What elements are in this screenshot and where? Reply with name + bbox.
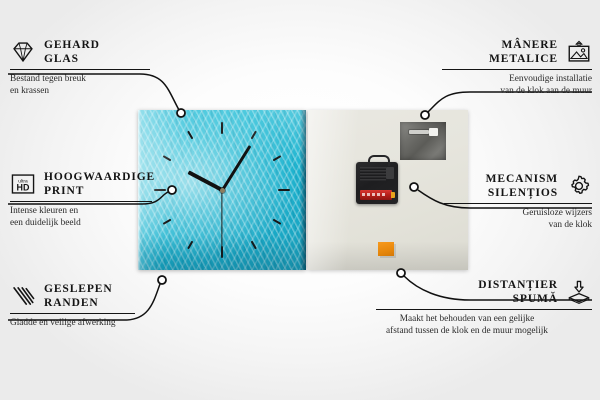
orange-foam-spacer <box>378 242 394 256</box>
callout-desc-line-1: Eenvoudige installatie <box>377 74 592 86</box>
callout-title: MECANISM SILENȚIOS <box>486 172 558 200</box>
hour-marker <box>273 155 282 161</box>
callout-distantier-spuma[interactable]: DISTANȚIER SPUMĂ Maakt het behouden van … <box>342 278 592 337</box>
callout-title: GEHARD GLAS <box>44 38 100 66</box>
clock-center-pin <box>220 188 225 193</box>
battery <box>360 190 392 200</box>
callout-manere-metalice[interactable]: MÂNERE METALICE Eenvoudige installatie v… <box>377 38 592 97</box>
callout-desc-line-2: een duidelijk beeld <box>10 218 220 230</box>
callout-title: MÂNERE METALICE <box>489 38 558 66</box>
callout-header: GESLEPEN RANDEN <box>10 282 210 310</box>
callout-title: GESLEPEN RANDEN <box>44 282 113 310</box>
callout-desc-line-1: Gladde en veilige afwerking <box>10 318 210 330</box>
foam-spacer-icon <box>566 279 592 305</box>
infographic-root: GEHARD GLAS Bestand tegen breuk en krass… <box>0 0 600 400</box>
mechanism-grill <box>360 167 386 181</box>
callout-rule <box>376 309 592 310</box>
callout-desc-line-1: Geruisloze wijzers <box>392 208 592 220</box>
picture-hanger-icon <box>566 39 592 65</box>
callout-rule <box>10 69 150 70</box>
callout-desc-line-1: Maakt het behouden van een gelijke <box>342 314 592 326</box>
callout-desc-line-1: Bestand tegen breuk <box>10 74 210 86</box>
callout-desc-line-2: en krassen <box>10 86 210 98</box>
callout-header: GEHARD GLAS <box>10 38 210 66</box>
callout-rule <box>10 313 135 314</box>
callout-mecanism-silentios[interactable]: MECANISM SILENȚIOS Geruisloze wijzers va… <box>392 172 592 231</box>
ultra-hd-icon: ultra HD <box>10 171 36 197</box>
gear-icon <box>566 173 592 199</box>
hanger-slot <box>409 130 429 134</box>
callout-header: ultra HD HOOGWAARDIGE PRINT <box>10 170 220 198</box>
svg-text:HD: HD <box>17 183 30 193</box>
bevelled-edges-icon <box>10 283 36 309</box>
diamond-icon <box>10 39 36 65</box>
callout-header: DISTANȚIER SPUMĂ <box>342 278 592 306</box>
hour-marker <box>187 131 193 140</box>
hanger-slot-secondary <box>429 128 438 136</box>
callout-desc-line-2: afstand tussen de klok en de muur mogeli… <box>342 326 592 338</box>
battery-label <box>362 193 386 196</box>
hour-marker <box>278 189 290 191</box>
hour-marker <box>273 219 282 225</box>
callout-rule <box>442 69 592 70</box>
hour-marker <box>187 241 193 250</box>
clock-right-edge <box>300 110 306 270</box>
callout-hoogwaardige-print[interactable]: ultra HD HOOGWAARDIGE PRINT Intense kleu… <box>10 170 220 229</box>
hour-marker <box>221 122 223 134</box>
hour-marker <box>163 155 172 161</box>
callout-desc-line-2: van de klok aan de muur <box>377 86 592 98</box>
hour-marker <box>251 241 257 250</box>
metal-hanger-plate <box>400 122 446 160</box>
leader-dot-distantier <box>397 269 405 277</box>
callout-rule <box>444 203 592 204</box>
callout-gehard-glas[interactable]: GEHARD GLAS Bestand tegen breuk en krass… <box>10 38 210 97</box>
mechanism-hanging-loop <box>368 155 390 166</box>
callout-desc-line-2: van de klok <box>392 220 592 232</box>
callout-header: MÂNERE METALICE <box>377 38 592 66</box>
callout-header: MECANISM SILENȚIOS <box>392 172 592 200</box>
callout-rule <box>10 201 152 202</box>
callout-desc-line-1: Intense kleuren en <box>10 206 220 218</box>
callout-title: DISTANȚIER SPUMĂ <box>478 278 558 306</box>
callout-title: HOOGWAARDIGE PRINT <box>44 170 155 198</box>
callout-geslepen-randen[interactable]: GESLEPEN RANDEN Gladde en veilige afwerk… <box>10 282 210 330</box>
hour-marker <box>251 131 257 140</box>
